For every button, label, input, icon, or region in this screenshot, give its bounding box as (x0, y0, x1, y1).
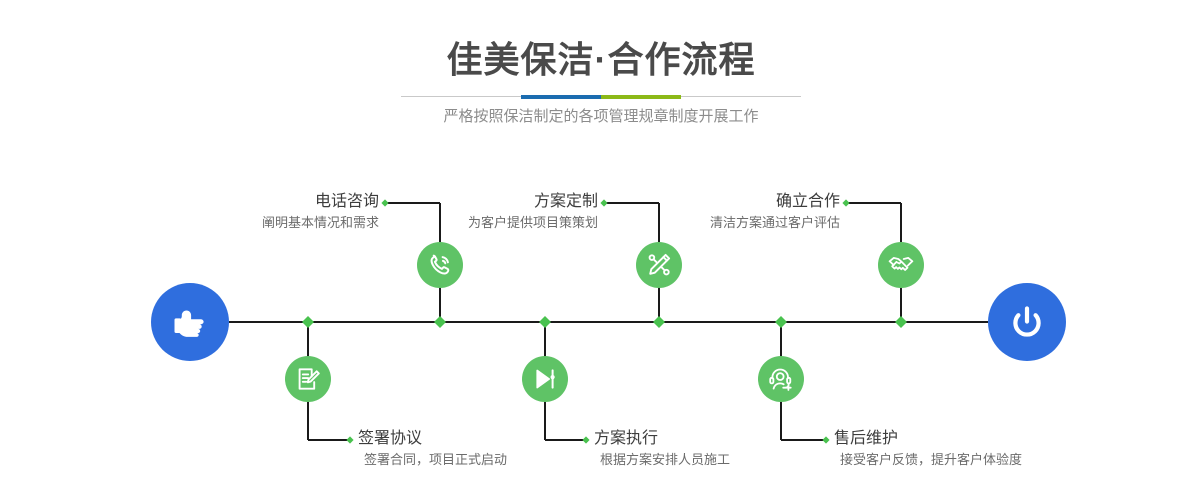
flow-step-desc-3: 为客户提供项目策策划 (468, 213, 598, 233)
handshake-icon (887, 251, 915, 279)
flow-step-desc-4: 根据方案安排人员施工 (594, 450, 730, 470)
header: 佳美保洁·合作流程 严格按照保洁制定的各项管理规章制度开展工作 (0, 0, 1202, 150)
divider-accent-green (601, 95, 681, 99)
flow-step-title-4: 方案执行 (594, 428, 730, 450)
flow-step-node-6[interactable] (758, 356, 804, 402)
flow-diagram-page: 佳美保洁·合作流程 严格按照保洁制定的各项管理规章制度开展工作 (0, 0, 1202, 502)
flow-step-node-2[interactable] (285, 356, 331, 402)
divider-accent-blue (521, 95, 601, 99)
flow-diagram: 电话咨询阐明基本情况和需求签署协议签署合同，项目正式启动方案定制为客户提供项目策… (0, 150, 1202, 502)
flow-step-label-4: 方案执行根据方案安排人员施工 (594, 428, 730, 470)
play-forward-icon (531, 365, 559, 393)
flow-end-node[interactable] (988, 283, 1066, 361)
flow-step-node-4[interactable] (522, 356, 568, 402)
flow-step-title-5: 确立合作 (710, 191, 840, 213)
page-subtitle: 严格按照保洁制定的各项管理规章制度开展工作 (0, 105, 1202, 129)
pointing-hand-icon (168, 300, 212, 344)
flow-step-node-5[interactable] (878, 242, 924, 288)
flow-step-title-1: 电话咨询 (262, 191, 379, 213)
flow-start-node[interactable] (151, 283, 229, 361)
power-icon (1005, 300, 1049, 344)
document-sign-icon (294, 365, 322, 393)
flow-step-desc-6: 接受客户反馈，提升客户体验度 (834, 450, 1022, 470)
phone-call-icon (426, 251, 454, 279)
flow-step-label-3: 方案定制为客户提供项目策策划 (468, 191, 598, 233)
flow-step-label-6: 售后维护接受客户反馈，提升客户体验度 (834, 428, 1022, 470)
flow-step-node-1[interactable] (417, 242, 463, 288)
flow-step-label-2: 签署协议签署合同，项目正式启动 (358, 428, 507, 470)
flow-step-desc-5: 清洁方案通过客户评估 (710, 213, 840, 233)
flow-step-desc-2: 签署合同，项目正式启动 (358, 450, 507, 470)
flow-step-title-2: 签署协议 (358, 428, 507, 450)
flow-step-title-6: 售后维护 (834, 428, 1022, 450)
flow-step-title-3: 方案定制 (468, 191, 598, 213)
title-divider (401, 95, 801, 99)
pencil-design-icon (645, 251, 673, 279)
flow-step-label-5: 确立合作清洁方案通过客户评估 (710, 191, 840, 233)
flow-step-node-3[interactable] (636, 242, 682, 288)
page-title: 佳美保洁·合作流程 (0, 38, 1202, 82)
flow-step-desc-1: 阐明基本情况和需求 (262, 213, 379, 233)
flow-step-label-1: 电话咨询阐明基本情况和需求 (262, 191, 379, 233)
headset-support-icon (767, 365, 795, 393)
